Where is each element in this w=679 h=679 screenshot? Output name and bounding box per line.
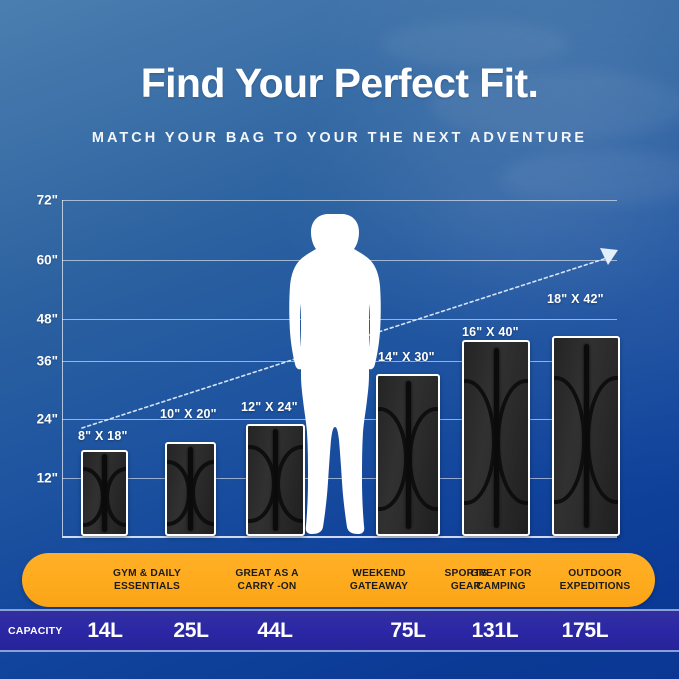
use-case-cell-1[interactable]: GYM & DAILY ESSENTIALS (84, 553, 210, 607)
use-case-line: CAMPING (476, 580, 526, 593)
use-case-line: GREAT FOR (470, 567, 531, 580)
y-tick-label: 24" (37, 412, 58, 427)
use-case-band: GYM & DAILY ESSENTIALS GREAT AS A CARRY … (22, 553, 655, 607)
bag-arc-right (105, 467, 129, 527)
bag-arc-right (496, 379, 530, 505)
bag-arc-left (552, 376, 586, 504)
use-case-line: EXPEDITIONS (560, 580, 631, 593)
y-tick-label: 48" (37, 312, 58, 327)
capacity-band: CAPACITY 14L 25L 44L 75L 131L 175L (0, 609, 679, 652)
y-tick-label: 72" (37, 193, 58, 208)
bar-bag-5[interactable] (462, 340, 530, 536)
y-axis-line (62, 200, 63, 536)
capacity-value-3: 44L (245, 611, 305, 650)
bag-arc-right (191, 460, 217, 526)
use-case-line: ESSENTIALS (114, 580, 180, 593)
bag-arc-left (165, 460, 191, 526)
capacity-row-label: CAPACITY (8, 611, 63, 650)
capacity-value-4: 75L (376, 611, 440, 650)
capacity-value-2: 25L (164, 611, 218, 650)
use-case-line: OUTDOOR (568, 567, 621, 580)
bag-arc-right (586, 376, 620, 504)
bar-size-label-6: 18" X 42" (547, 292, 604, 306)
use-case-cell-6[interactable]: OUTDOOR EXPEDITIONS (534, 553, 656, 607)
bag-arc-right (408, 407, 440, 511)
capacity-value-5: 131L (460, 611, 530, 650)
bar-size-label-5: 16" X 40" (462, 325, 519, 339)
capacity-value-1: 14L (78, 611, 132, 650)
use-case-line: GYM & DAILY (113, 567, 181, 580)
y-tick-label: 12" (37, 471, 58, 486)
use-case-line: CARRY -ON (238, 580, 297, 593)
bar-bag-6[interactable] (552, 336, 620, 536)
use-case-cell-2[interactable]: GREAT AS A CARRY -ON (210, 553, 324, 607)
gridline (62, 200, 617, 201)
bar-bag-2[interactable] (165, 442, 216, 536)
bar-bag-1[interactable] (81, 450, 128, 536)
y-tick-label: 36" (37, 354, 58, 369)
use-case-line: GREAT AS A (235, 567, 298, 580)
capacity-value-6: 175L (550, 611, 620, 650)
infographic-canvas: Find Your Perfect Fit. MATCH YOUR BAG TO… (0, 0, 679, 679)
bag-arc-left (462, 379, 496, 505)
bar-size-label-2: 10" X 20" (160, 407, 217, 421)
bag-arc-left (246, 445, 276, 523)
bar-size-label-1: 8" X 18" (78, 429, 128, 443)
y-tick-label: 60" (37, 253, 58, 268)
human-silhouette-scale (283, 212, 387, 538)
bag-arc-left (81, 467, 105, 527)
